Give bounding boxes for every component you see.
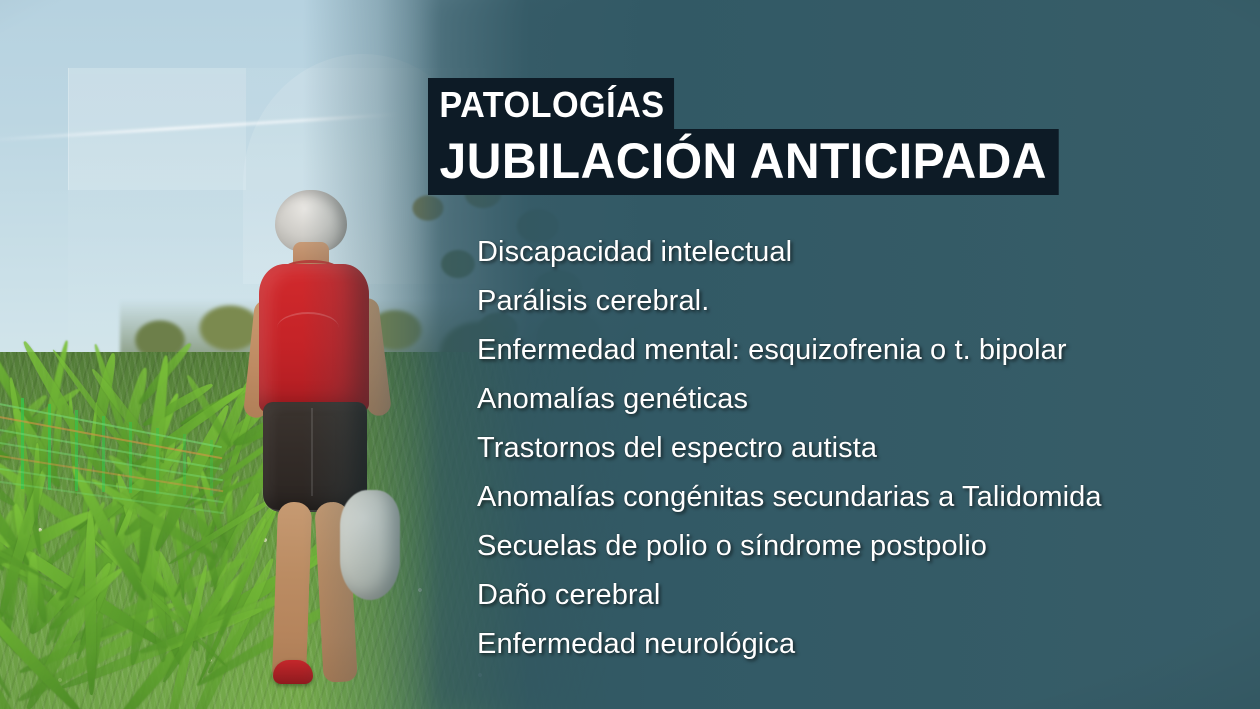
broadcast-graphic: PATOLOGÍAS JUBILACIÓN ANTICIPADA Discapa… — [0, 0, 1260, 709]
pathology-list: Discapacidad intelectual Parálisis cereb… — [477, 228, 1237, 669]
list-item: Trastornos del espectro autista — [477, 424, 1237, 473]
title-kicker: PATOLOGÍAS — [428, 78, 674, 130]
list-item: Discapacidad intelectual — [477, 228, 1237, 277]
list-item: Anomalías congénitas secundarias a Talid… — [477, 473, 1237, 522]
list-item: Enfermedad neurológica — [477, 620, 1237, 669]
list-item: Secuelas de polio o síndrome postpolio — [477, 522, 1237, 571]
list-item: Parálisis cerebral. — [477, 277, 1237, 326]
title-main-row: JUBILACIÓN ANTICIPADA — [428, 130, 1085, 195]
list-item: Anomalías genéticas — [477, 375, 1237, 424]
title-kicker-row: PATOLOGÍAS — [428, 78, 1085, 130]
list-item: Enfermedad mental: esquizofrenia o t. bi… — [477, 326, 1237, 375]
list-item: Daño cerebral — [477, 571, 1237, 620]
title-main: JUBILACIÓN ANTICIPADA — [428, 129, 1058, 195]
title-block: PATOLOGÍAS JUBILACIÓN ANTICIPADA — [428, 78, 1085, 195]
